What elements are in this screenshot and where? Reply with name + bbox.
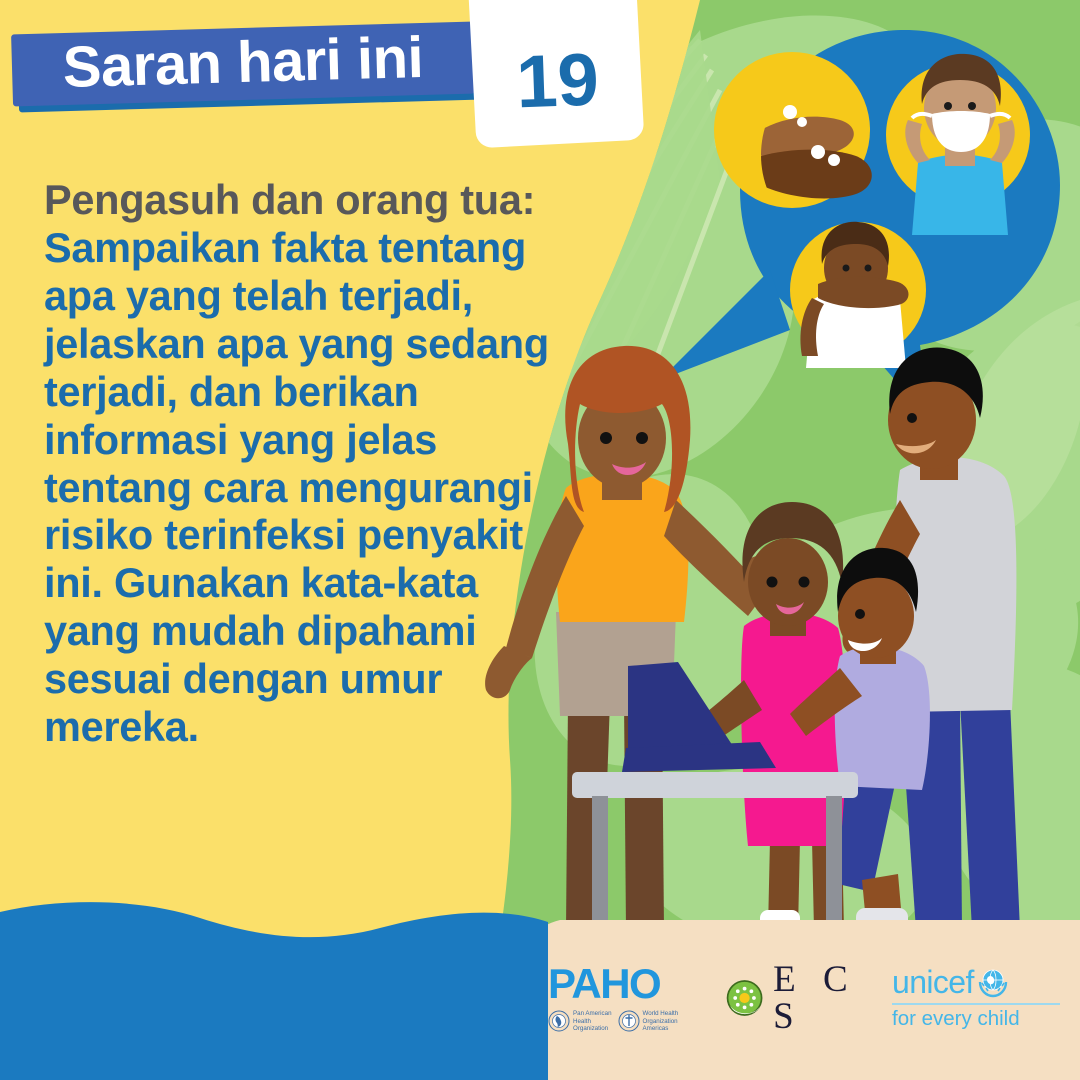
copy-lead: Pengasuh dan orang tua: [44,176,564,224]
paho-logo: PAHO Pan American Health Organization [548,963,718,1034]
paho-wordmark: PAHO [548,963,718,1005]
paho-seal-text: Pan American Health Organization [573,1010,612,1034]
boy-torso [912,155,1008,235]
desk-leg-left [592,796,608,930]
who-seal-emblem-icon [618,1010,640,1032]
oecs-emblem-icon [725,975,764,1021]
paho-seal-emblem-icon [548,1010,570,1032]
unicef-globe-icon [977,966,1009,998]
unicef-top-row: unicef [892,966,1060,998]
world-health-organization-seal: World Health Organization Americas [618,1010,679,1034]
day-number-card: 19 [468,0,645,148]
paho-seals: Pan American Health Organization World H… [548,1010,718,1034]
oecs-logo: E C S [725,961,885,1035]
boy-shirt [835,646,930,790]
body-copy: Pengasuh dan orang tua: Sampaikan fakta … [44,176,564,751]
unicef-divider [892,1003,1060,1005]
desk-top [572,772,858,798]
who-seal-text: World Health Organization Americas [643,1010,679,1034]
copy-rest: Sampaikan fakta tentang apa yang telah t… [44,224,564,751]
unicef-logo: unicef for every child [892,966,1060,1029]
poster-root: Saran hari ini 19 Pengasuh dan orang tua… [0,0,1080,1080]
oecs-wordmark: E C S [773,961,885,1035]
desk-leg-right [826,796,842,930]
unicef-wordmark: unicef [892,966,974,998]
header-banner: Saran hari ini [12,28,482,106]
footer-logo-row: PAHO Pan American Health Organization [548,952,1060,1044]
day-number: 19 [515,43,601,146]
unicef-tagline: for every child [892,1009,1060,1030]
pan-american-health-organization-seal: Pan American Health Organization [548,1010,612,1034]
banner-title: Saran hari ini [11,22,475,107]
